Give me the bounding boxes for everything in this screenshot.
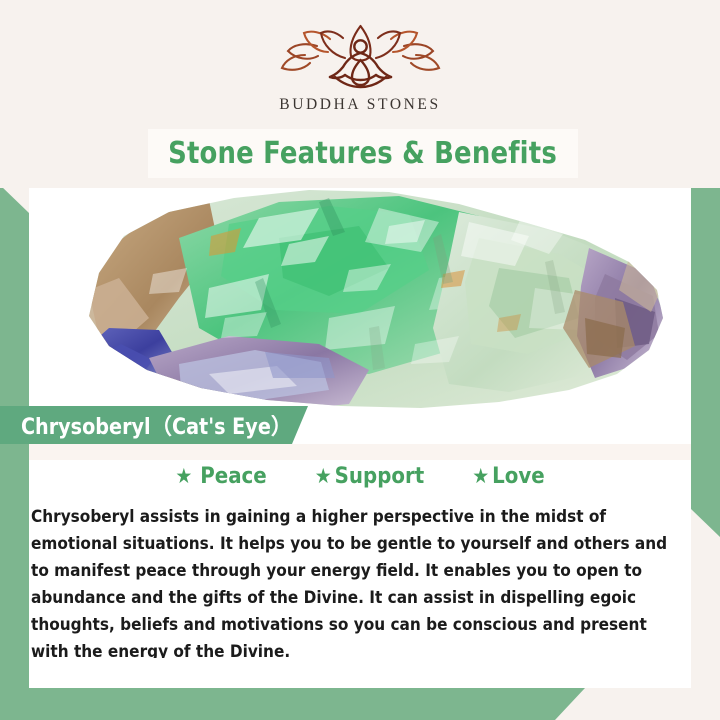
brand-name: BUDDHA STONES bbox=[230, 96, 490, 114]
keyword-label: Support bbox=[335, 464, 425, 489]
lotus-meditation-figure-icon bbox=[273, 22, 448, 92]
star-icon: ★ bbox=[175, 466, 192, 487]
stone-name-banner: Chrysoberyl（Cat's Eye） bbox=[0, 406, 308, 444]
stone-description: Chrysoberyl assists in gaining a higher … bbox=[31, 504, 676, 666]
brand-logo: BUDDHA STONES bbox=[230, 22, 490, 114]
stone-photo bbox=[29, 178, 691, 433]
bottom-white-strip bbox=[29, 658, 691, 688]
stone-info-card: Chrysoberyl（Cat's Eye） bbox=[0, 0, 720, 720]
keyword-support: ★ Support bbox=[315, 464, 424, 489]
content-section: ★ Peace ★ Support ★ Love Chrysoberyl ass… bbox=[29, 444, 691, 688]
keyword-love: ★ Love bbox=[472, 464, 545, 489]
keyword-label: Peace bbox=[200, 464, 266, 489]
frame-accent-bottom bbox=[0, 688, 585, 720]
stone-name-label: Chrysoberyl（Cat's Eye） bbox=[4, 409, 292, 441]
star-icon: ★ bbox=[472, 466, 489, 487]
star-icon: ★ bbox=[315, 466, 332, 487]
keyword-label: Love bbox=[492, 464, 545, 489]
tint-strip bbox=[29, 444, 691, 460]
page-title: Stone Features & Benefits bbox=[169, 136, 558, 171]
title-banner: Stone Features & Benefits bbox=[148, 129, 578, 178]
keyword-list: ★ Peace ★ Support ★ Love bbox=[29, 464, 691, 489]
frame-accent-left bbox=[0, 185, 29, 720]
keyword-peace: ★ Peace bbox=[175, 464, 266, 489]
